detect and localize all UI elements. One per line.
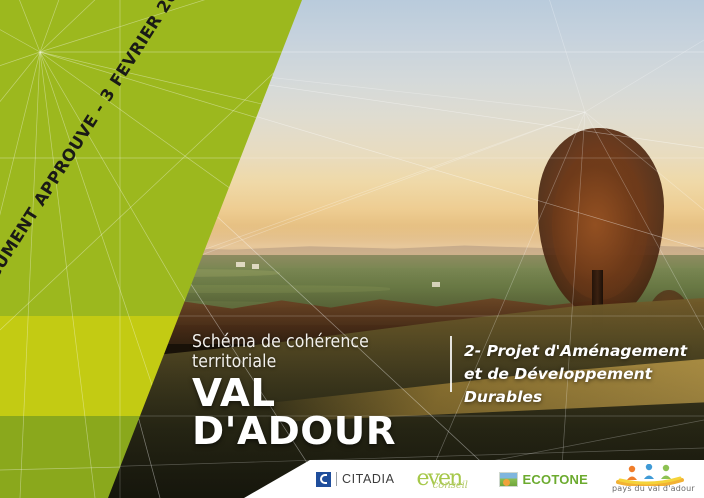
people-arc-mark-icon xyxy=(610,464,690,486)
page-title: VAL D'ADOUR xyxy=(192,374,457,450)
logo-citadia: CITADIA xyxy=(316,472,395,487)
document-overline: Schéma de cohérence territoriale xyxy=(192,332,452,372)
title-block: Schéma de cohérence territoriale VAL D'A… xyxy=(192,332,452,450)
logo-even-sublabel: conseil xyxy=(433,479,468,491)
logo-even-conseil: even conseil xyxy=(417,467,477,491)
document-type-line-1: 2- Projet d'Aménagement xyxy=(464,340,704,363)
logo-citadia-label: CITADIA xyxy=(336,472,395,486)
logo-ecotone: ECOTONE xyxy=(499,472,588,487)
landscape-icon xyxy=(499,472,518,487)
document-type-line-2: et de Développement Durables xyxy=(464,363,704,409)
farmhouse xyxy=(236,262,245,267)
logo-pays-du-val-dadour: pays du val d'adour xyxy=(610,464,690,494)
document-type-block: 2- Projet d'Aménagement et de Développem… xyxy=(464,340,704,409)
logo-pays-label: pays du val d'adour xyxy=(612,484,695,493)
title-divider xyxy=(450,336,452,392)
citadia-c-mark-icon xyxy=(316,472,331,487)
document-cover: DOCUMENT APPROUVE - 3 FEVRIER 2016 Schém… xyxy=(0,0,704,498)
partner-logos: CITADIA even conseil ECOTONE xyxy=(316,460,690,498)
logo-ecotone-label: ECOTONE xyxy=(523,472,588,487)
